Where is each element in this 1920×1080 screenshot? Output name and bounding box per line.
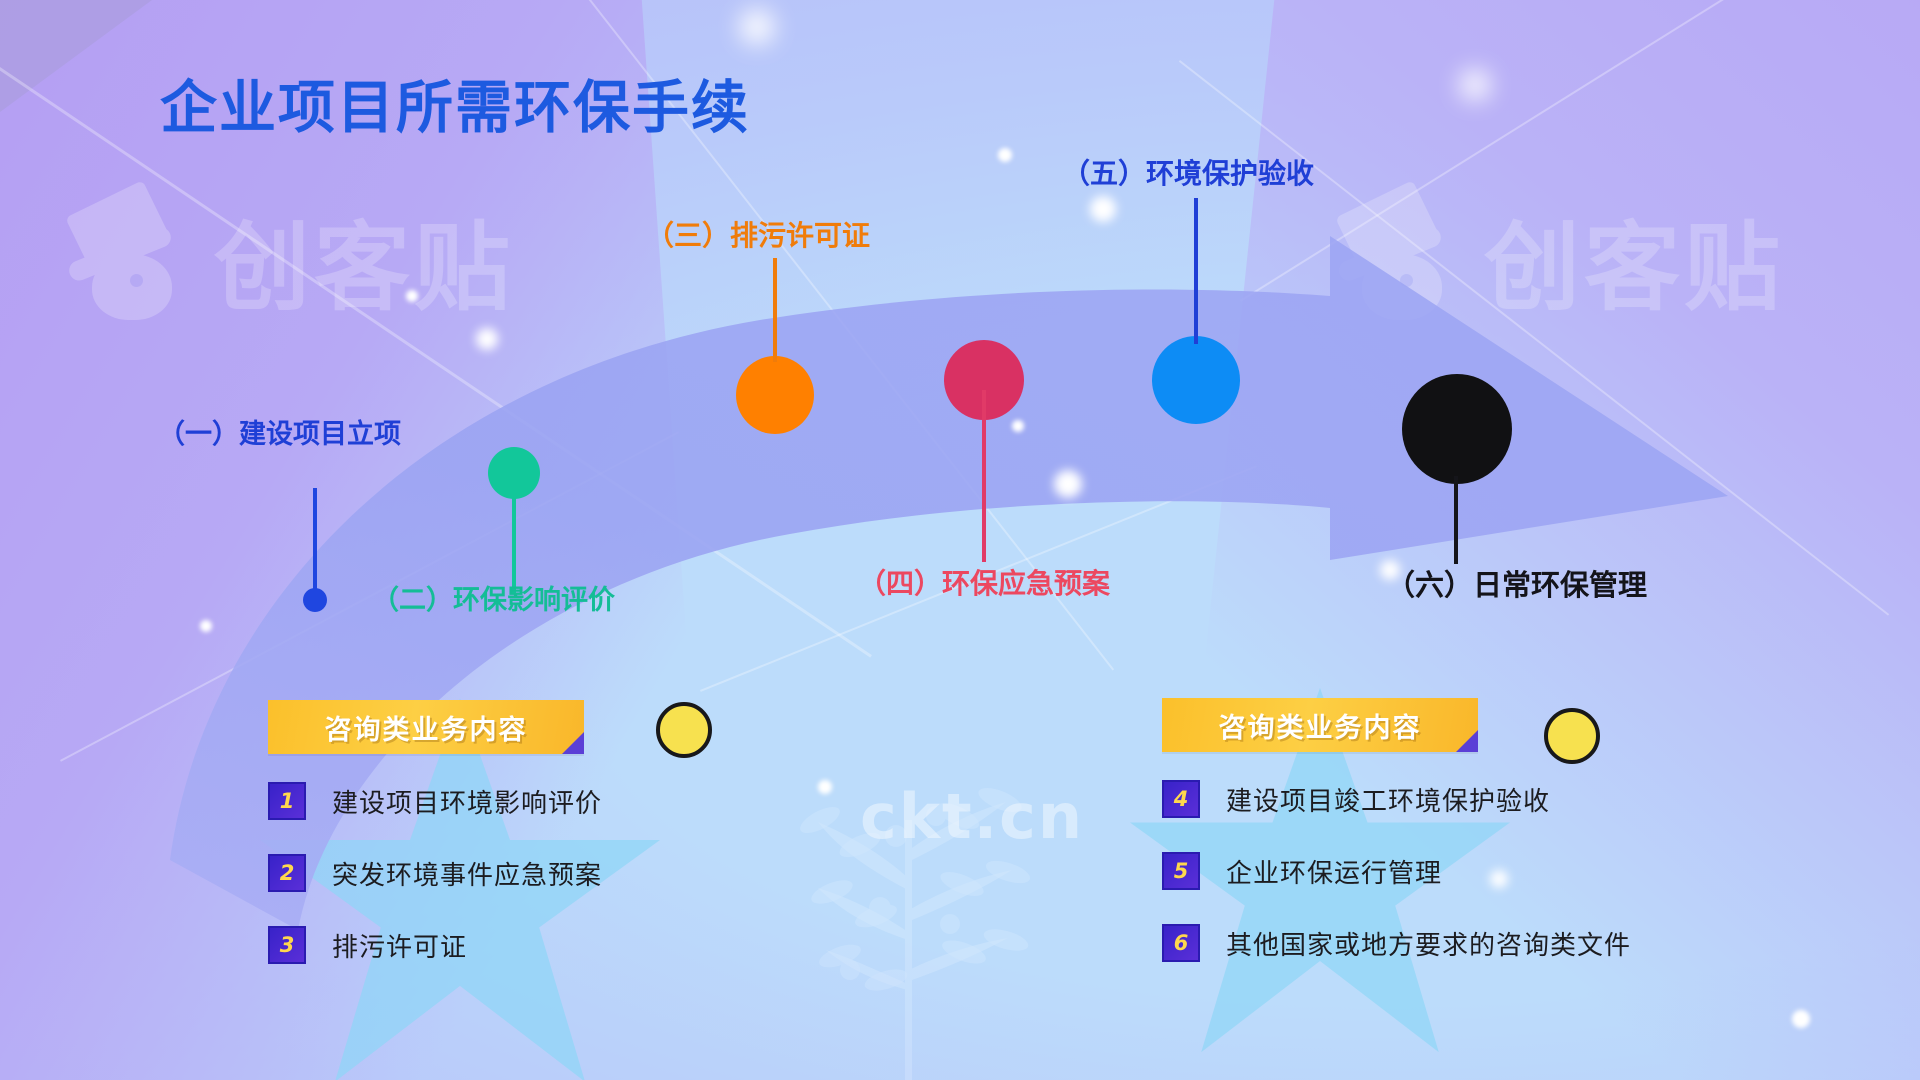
list-item-number: 1 xyxy=(268,782,306,820)
yellow-ball-left xyxy=(656,702,712,758)
panel-left-banner: 咨询类业务内容 xyxy=(268,700,584,754)
list-item-label: 突发环境事件应急预案 xyxy=(332,855,602,892)
milestone-four-stem xyxy=(982,390,986,562)
milestone-three-stem xyxy=(773,258,777,362)
bokeh-dot xyxy=(1460,70,1490,100)
milestone-two-label: （二）环保影响评价 xyxy=(372,578,615,617)
list-item[interactable]: 6 其他国家或地方要求的咨询类文件 xyxy=(1162,924,1631,962)
list-item[interactable]: 3 排污许可证 xyxy=(268,926,602,964)
bokeh-dot xyxy=(200,620,212,632)
milestone-five-label: （五）环境保护验收 xyxy=(1062,152,1314,192)
bokeh-dot xyxy=(1090,196,1116,222)
bokeh-dot xyxy=(476,328,498,350)
list-item[interactable]: 5 企业环保运行管理 xyxy=(1162,852,1631,890)
infographic-canvas: ckt.cn 创客贴 创客贴 企业项目所需环保手 xyxy=(0,0,1920,1080)
panel-right-banner-label: 咨询类业务内容 xyxy=(1219,706,1422,745)
milestone-two-dot[interactable] xyxy=(488,447,540,499)
milestone-one-label: （一）建设项目立项 xyxy=(158,412,401,451)
bokeh-dot xyxy=(998,148,1012,162)
milestone-three-label: （三）排污许可证 xyxy=(646,214,870,254)
banner-fold-icon xyxy=(1456,730,1478,752)
list-item-number: 2 xyxy=(268,854,306,892)
milestone-six-label: （六）日常环保管理 xyxy=(1386,562,1647,604)
page-title: 企业项目所需环保手续 xyxy=(160,62,750,144)
bokeh-dot xyxy=(1054,470,1082,498)
list-item-label: 排污许可证 xyxy=(332,927,467,964)
milestone-three-dot[interactable] xyxy=(736,356,814,434)
list-item[interactable]: 1 建设项目环境影响评价 xyxy=(268,782,602,820)
banner-fold-icon xyxy=(562,732,584,754)
panel-right-banner: 咨询类业务内容 xyxy=(1162,698,1478,752)
milestone-six-dot[interactable] xyxy=(1402,374,1512,484)
list-item-number: 4 xyxy=(1162,780,1200,818)
list-item-label: 其他国家或地方要求的咨询类文件 xyxy=(1226,925,1631,962)
list-item-number: 5 xyxy=(1162,852,1200,890)
list-item-number: 6 xyxy=(1162,924,1200,962)
list-item-label: 建设项目竣工环境保护验收 xyxy=(1226,781,1550,818)
panel-right: 咨询类业务内容 4 建设项目竣工环境保护验收 5 企业环保运行管理 6 其他国家… xyxy=(1162,698,1631,996)
list-item-number: 3 xyxy=(268,926,306,964)
panel-left-banner-label: 咨询类业务内容 xyxy=(325,708,528,747)
bokeh-dot xyxy=(406,290,418,302)
bokeh-dot xyxy=(1792,1010,1810,1028)
bokeh-dot xyxy=(818,780,832,794)
corner-triangle-decoration xyxy=(0,0,152,112)
panel-left: 咨询类业务内容 1 建设项目环境影响评价 2 突发环境事件应急预案 3 排污许可… xyxy=(268,700,602,998)
list-item[interactable]: 2 突发环境事件应急预案 xyxy=(268,854,602,892)
list-item-label: 企业环保运行管理 xyxy=(1226,853,1442,890)
milestone-five-dot[interactable] xyxy=(1152,336,1240,424)
milestone-six-stem xyxy=(1454,476,1458,564)
panel-right-list: 4 建设项目竣工环境保护验收 5 企业环保运行管理 6 其他国家或地方要求的咨询… xyxy=(1162,780,1631,962)
bokeh-dot xyxy=(1012,420,1024,432)
milestone-five-stem xyxy=(1194,198,1198,344)
milestone-four-label: （四）环保应急预案 xyxy=(858,562,1110,602)
list-item[interactable]: 4 建设项目竣工环境保护验收 xyxy=(1162,780,1631,818)
list-item-label: 建设项目环境影响评价 xyxy=(332,783,602,820)
bokeh-dot xyxy=(740,10,774,44)
panel-left-list: 1 建设项目环境影响评价 2 突发环境事件应急预案 3 排污许可证 xyxy=(268,782,602,964)
milestone-one-stem xyxy=(313,488,317,592)
